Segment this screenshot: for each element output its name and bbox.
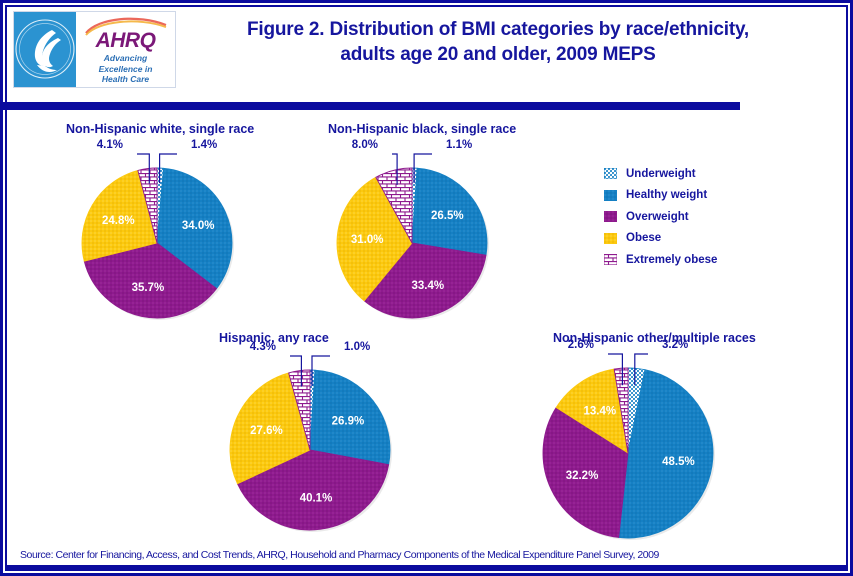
pie-slice-label: 27.6% (250, 425, 283, 437)
pie-slice-label: 31.0% (351, 234, 384, 246)
figure-title: Figure 2. Distribution of BMI categories… (188, 17, 808, 67)
pie-slice-label: 13.4% (583, 406, 616, 418)
hhs-seal-icon (14, 12, 76, 87)
pie-slice-label: 24.8% (102, 215, 135, 227)
ahrq-tagline-line3: Health Care (76, 74, 175, 85)
legend-item: Healthy weight (604, 185, 717, 207)
legend-item-label: Overweight (626, 211, 689, 223)
pie-slice-label: 4.1% (97, 139, 123, 151)
pie-chart: 1.0%26.9%40.1%27.6%4.3% (172, 312, 448, 576)
pie-slice-label: 1.0% (344, 341, 370, 353)
pie-slice-label: 26.5% (431, 210, 464, 222)
pie-slice-label: 26.9% (332, 416, 365, 428)
legend-item-label: Underweight (626, 168, 696, 180)
pie-slice-label: 32.2% (566, 470, 599, 482)
footer-rule (7, 565, 846, 569)
ahrq-tagline-line1: Advancing (76, 53, 175, 64)
legend-item-label: Obese (626, 232, 661, 244)
legend-item: Underweight (604, 163, 717, 185)
ahrq-tagline-line2: Excellence in (76, 64, 175, 75)
ahrq-tagline: Advancing Excellence in Health Care (76, 53, 175, 85)
legend-swatch-brick-icon (604, 254, 617, 265)
pie-slice-label: 1.1% (446, 139, 472, 151)
header-rule (0, 102, 740, 110)
pie-slice-label: 33.4% (411, 280, 444, 292)
pie-slice-label: 8.0% (352, 139, 378, 151)
ahrq-wordmark-text: AHRQ (96, 29, 156, 53)
source-note: Source: Center for Financing, Access, an… (20, 549, 659, 561)
legend-item-label: Healthy weight (626, 189, 707, 201)
pie-slice-label: 4.3% (250, 341, 276, 353)
ahrq-wordmark: AHRQ Advancing Excellence in Health Care (76, 12, 175, 87)
figure-title-line1: Figure 2. Distribution of BMI categories… (188, 17, 808, 42)
pie-slice-label: 34.0% (182, 220, 215, 232)
ahrq-logo: AHRQ Advancing Excellence in Health Care (13, 11, 176, 88)
legend-item: Obese (604, 228, 717, 250)
legend-swatch-solid-icon (604, 233, 617, 244)
legend-item: Overweight (604, 206, 717, 228)
pie-slice-label: 40.1% (300, 493, 333, 505)
legend-swatch-solid-icon (604, 211, 617, 222)
pie-chart: 3.2%48.5%32.2%13.4%2.6% (485, 310, 771, 576)
figure-slide: AHRQ Advancing Excellence in Health Care… (0, 0, 853, 576)
legend: Underweight Healthy weight (604, 163, 717, 271)
legend-item: Extremely obese (604, 249, 717, 271)
legend-item-label: Extremely obese (626, 254, 717, 266)
pie-slice-label: 3.2% (662, 339, 688, 351)
legend-swatch-solid-icon (604, 190, 617, 201)
figure-title-line2: adults age 20 and older, 2009 MEPS (188, 42, 808, 67)
pie-slice-label: 1.4% (191, 139, 217, 151)
pie-slice-label: 48.5% (662, 456, 695, 468)
pie-slice-label: 35.7% (132, 282, 165, 294)
pie-slice-label: 2.6% (568, 339, 594, 351)
legend-swatch-dots-sparse-icon (604, 168, 617, 179)
